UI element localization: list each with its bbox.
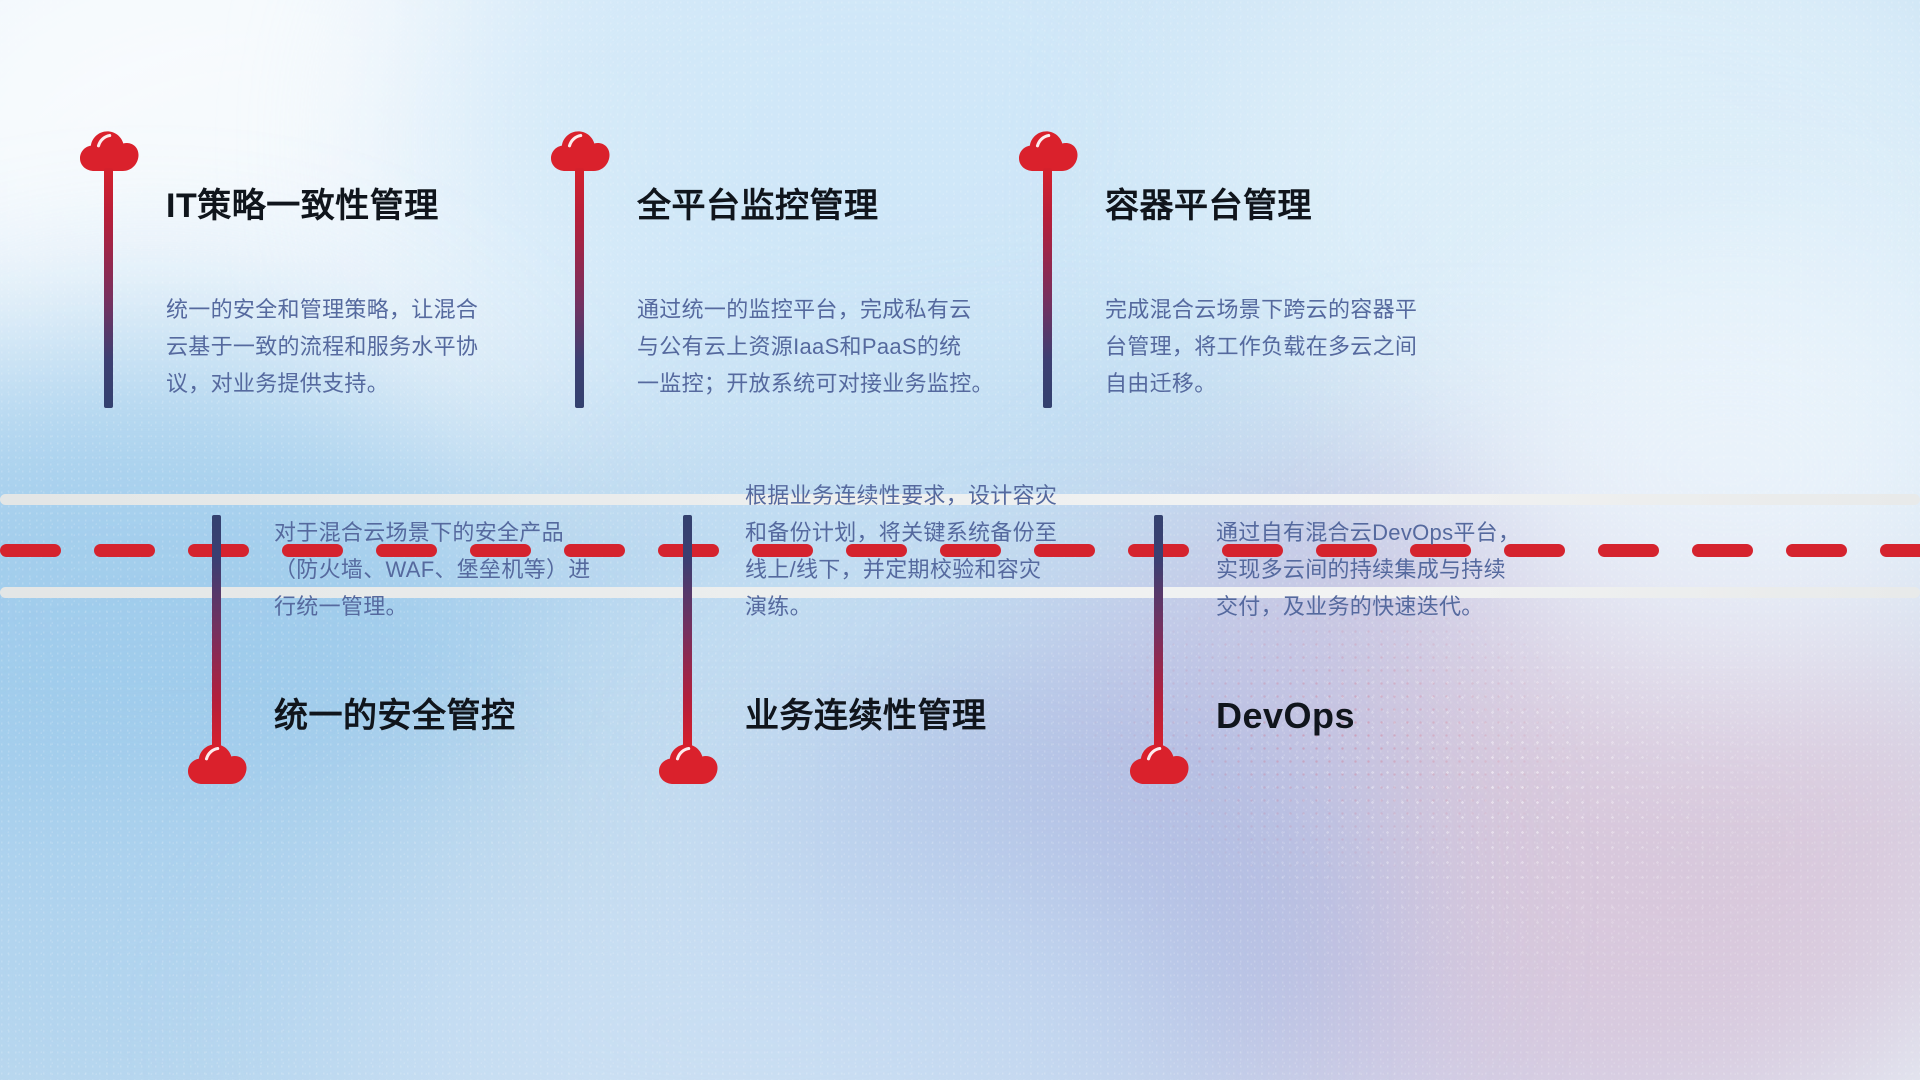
road-dash-segment (1692, 544, 1753, 557)
cloud-icon (1017, 128, 1079, 172)
milestone-description: 统一的安全和管理策略，让混合 云基于一致的流程和服务水平协 议，对业务提供支持。 (166, 291, 596, 402)
milestone-description: 对于混合云场景下的安全产品 （防火墙、WAF、堡垒机等）进 行统一管理。 (274, 514, 704, 625)
milestone-description: 通过自有混合云DevOps平台， 实现多云间的持续集成与持续 交付，及业务的快速… (1216, 514, 1646, 625)
milestone-description: 通过统一的监控平台，完成私有云 与公有云上资源IaaS和PaaS的统 一监控；开… (637, 291, 1067, 402)
milestone-title: DevOps (1216, 695, 1355, 737)
milestone-description: 完成混合云场景下跨云的容器平 台管理，将工作负载在多云之间 自由迁移。 (1105, 291, 1535, 402)
milestone-title: IT策略一致性管理 (166, 178, 439, 227)
cloud-icon (78, 128, 140, 172)
road-dash-segment (1880, 544, 1920, 557)
marker-stem (575, 168, 584, 408)
marker-stem (1154, 515, 1163, 747)
milestone-description: 根据业务连续性要求，设计容灾 和备份计划，将关键系统备份至 线上/线下，并定期校… (745, 477, 1175, 625)
cloud-icon (549, 128, 611, 172)
marker-stem (1043, 168, 1052, 408)
milestone-title: 业务连续性管理 (745, 688, 987, 737)
road-dash-segment (94, 544, 155, 557)
marker-stem (104, 168, 113, 408)
milestone-title: 容器平台管理 (1105, 178, 1312, 227)
cloud-icon (186, 741, 248, 785)
cloud-icon (657, 741, 719, 785)
marker-stem (212, 515, 221, 747)
road-dash-segment (0, 544, 61, 557)
milestone-title: 全平台监控管理 (637, 178, 879, 227)
cloud-icon (1128, 741, 1190, 785)
road-dash-segment (1786, 544, 1847, 557)
marker-stem (683, 515, 692, 747)
milestone-title: 统一的安全管控 (274, 688, 516, 737)
